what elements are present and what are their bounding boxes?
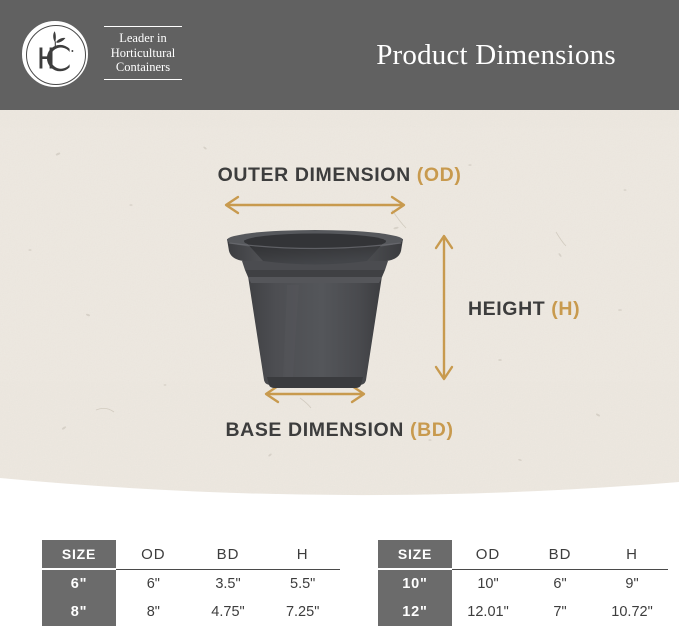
table-row: 6" 6" 3.5" 5.5": [42, 569, 340, 598]
cell-size: 10": [378, 569, 452, 598]
height-label-text: HEIGHT: [468, 298, 551, 320]
tagline-rule-bottom: [104, 79, 182, 80]
header-bd: BD: [524, 540, 596, 569]
bd-label-abbr: (BD): [410, 419, 454, 441]
cell-h: 9": [596, 569, 668, 598]
cell-h: 5.5": [265, 569, 340, 598]
header-od: OD: [116, 540, 191, 569]
tagline-line-3: Containers: [100, 60, 186, 75]
table-row: 8" 8" 4.75" 7.25": [42, 598, 340, 626]
height-label: HEIGHT (H): [468, 298, 580, 321]
table-right: SIZE OD BD H 10" 10" 6" 9" 12": [378, 540, 668, 626]
cell-od: 12.01": [452, 598, 524, 626]
cell-h: 10.72": [596, 598, 668, 626]
page-title: Product Dimensions: [330, 36, 662, 74]
cell-size: 6": [42, 569, 116, 598]
cell-size: 12": [378, 598, 452, 626]
table-header-row: SIZE OD BD H: [378, 540, 668, 569]
tagline-line-2: Horticultural: [100, 46, 186, 61]
header-size: SIZE: [42, 540, 116, 569]
brand-tagline: Leader in Horticultural Containers: [100, 26, 186, 80]
header-bd: BD: [191, 540, 266, 569]
cell-bd: 4.75": [191, 598, 266, 626]
product-dimensions-infographic: Leader in Horticultural Containers Produ…: [0, 0, 679, 636]
od-label-abbr: (OD): [417, 164, 462, 186]
cell-size: 8": [42, 598, 116, 626]
size-table-small: SIZE OD BD H 6" 6" 3.5" 5.5" 8": [42, 540, 340, 626]
tagline-line-1: Leader in: [100, 31, 186, 46]
cell-bd: 6": [524, 569, 596, 598]
table-row: 10" 10" 6" 9": [378, 569, 668, 598]
header-h: H: [596, 540, 668, 569]
brand-logo: [22, 21, 90, 89]
outer-dimension-label: OUTER DIMENSION (OD): [0, 164, 679, 187]
bd-label-text: BASE DIMENSION: [225, 419, 410, 441]
planter-pot-illustration: [215, 225, 415, 390]
header-size: SIZE: [378, 540, 452, 569]
hc-monogram-leaf-icon: [22, 21, 90, 89]
header-od: OD: [452, 540, 524, 569]
cell-h: 7.25": [265, 598, 340, 626]
base-dimension-label: BASE DIMENSION (BD): [0, 419, 679, 442]
size-table-large: SIZE OD BD H 10" 10" 6" 9" 12": [378, 540, 668, 626]
height-label-abbr: (H): [551, 298, 580, 320]
tagline-rule-top: [104, 26, 182, 27]
table-left: SIZE OD BD H 6" 6" 3.5" 5.5" 8": [42, 540, 340, 626]
pot-shape: [215, 225, 415, 390]
header-bar: Leader in Horticultural Containers Produ…: [0, 0, 679, 110]
cell-od: 8": [116, 598, 191, 626]
od-label-text: OUTER DIMENSION: [218, 164, 417, 186]
cell-od: 10": [452, 569, 524, 598]
cell-od: 6": [116, 569, 191, 598]
dimension-tables: SIZE OD BD H 6" 6" 3.5" 5.5" 8": [0, 540, 679, 636]
table-header-row: SIZE OD BD H: [42, 540, 340, 569]
header-h: H: [265, 540, 340, 569]
cell-bd: 7": [524, 598, 596, 626]
cell-bd: 3.5": [191, 569, 266, 598]
table-row: 12" 12.01" 7" 10.72": [378, 598, 668, 626]
